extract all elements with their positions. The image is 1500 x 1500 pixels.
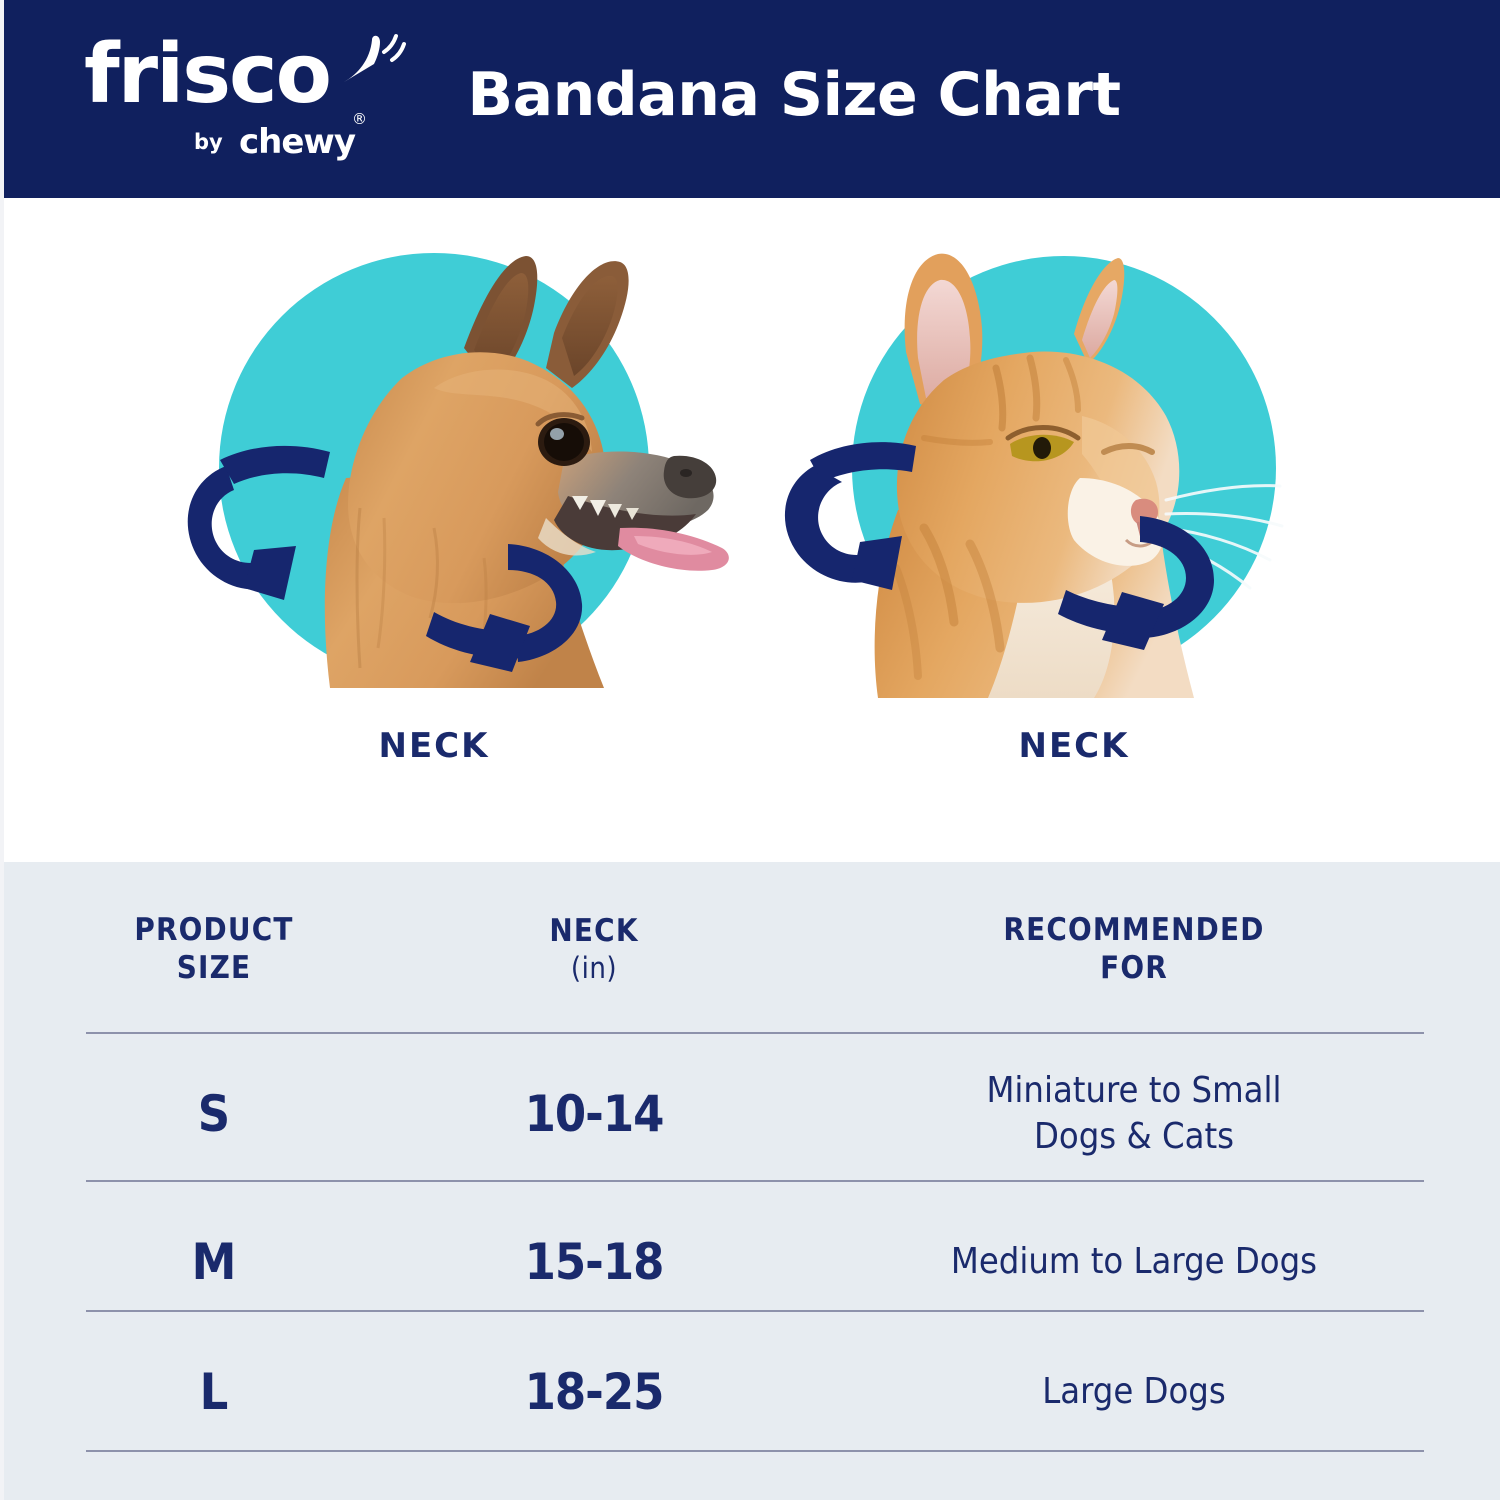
size-chart-page: frisco ® by chewy Bandana Size Chart xyxy=(0,0,1500,1500)
cat-illustration-block: NECK xyxy=(774,198,1374,818)
dog-illustration-block: NECK xyxy=(134,198,734,818)
row-neck: 18-25 xyxy=(424,1318,764,1466)
row-size: S xyxy=(4,1040,424,1188)
page-title: Bandana Size Chart xyxy=(4,60,1500,130)
header-product-line2: SIZE xyxy=(177,950,252,986)
row-divider xyxy=(86,1310,1424,1312)
logo-by-text: by xyxy=(194,130,223,154)
row-divider xyxy=(86,1450,1424,1452)
illustration-band: NECK xyxy=(4,198,1500,862)
header-neck-line1: NECK xyxy=(549,913,638,949)
page-header: frisco ® by chewy Bandana Size Chart xyxy=(4,0,1500,198)
row-recommended: Large Dogs xyxy=(764,1318,1500,1466)
dog-neck-label: NECK xyxy=(134,726,734,766)
size-table: PRODUCT SIZE NECK (in) RECOMMENDED FOR S xyxy=(4,862,1500,1500)
header-neck-unit: (in) xyxy=(549,951,638,986)
header-rec-line2: FOR xyxy=(1100,950,1168,986)
row-rec-line1: Large Dogs xyxy=(1042,1371,1226,1412)
table-header-recommended-for: RECOMMENDED FOR xyxy=(764,902,1500,998)
row-size: L xyxy=(4,1318,424,1466)
row-recommended: Miniature to Small Dogs & Cats xyxy=(764,1040,1500,1188)
header-product-line1: PRODUCT xyxy=(134,912,293,948)
dog-head-icon xyxy=(134,228,734,728)
header-rec-line1: RECOMMENDED xyxy=(1003,912,1264,948)
table-row: M 15-18 Medium to Large Dogs xyxy=(4,1188,1500,1336)
row-rec-line2: Dogs & Cats xyxy=(1034,1116,1234,1157)
row-divider xyxy=(86,1032,1424,1034)
table-header-row: PRODUCT SIZE NECK (in) RECOMMENDED FOR xyxy=(4,902,1500,998)
row-recommended: Medium to Large Dogs xyxy=(764,1188,1500,1336)
cat-neck-label: NECK xyxy=(774,726,1374,766)
table-row: S 10-14 Miniature to Small Dogs & Cats xyxy=(4,1040,1500,1188)
cat-head-icon xyxy=(774,228,1374,728)
table-header-product-size: PRODUCT SIZE xyxy=(4,902,424,998)
row-rec-line1: Miniature to Small xyxy=(986,1070,1281,1111)
row-divider xyxy=(86,1180,1424,1182)
row-rec-line1: Medium to Large Dogs xyxy=(951,1241,1317,1282)
row-size: M xyxy=(4,1188,424,1336)
row-neck: 10-14 xyxy=(424,1040,764,1188)
row-neck: 15-18 xyxy=(424,1188,764,1336)
table-row: L 18-25 Large Dogs xyxy=(4,1318,1500,1466)
table-header-neck: NECK (in) xyxy=(424,902,764,998)
